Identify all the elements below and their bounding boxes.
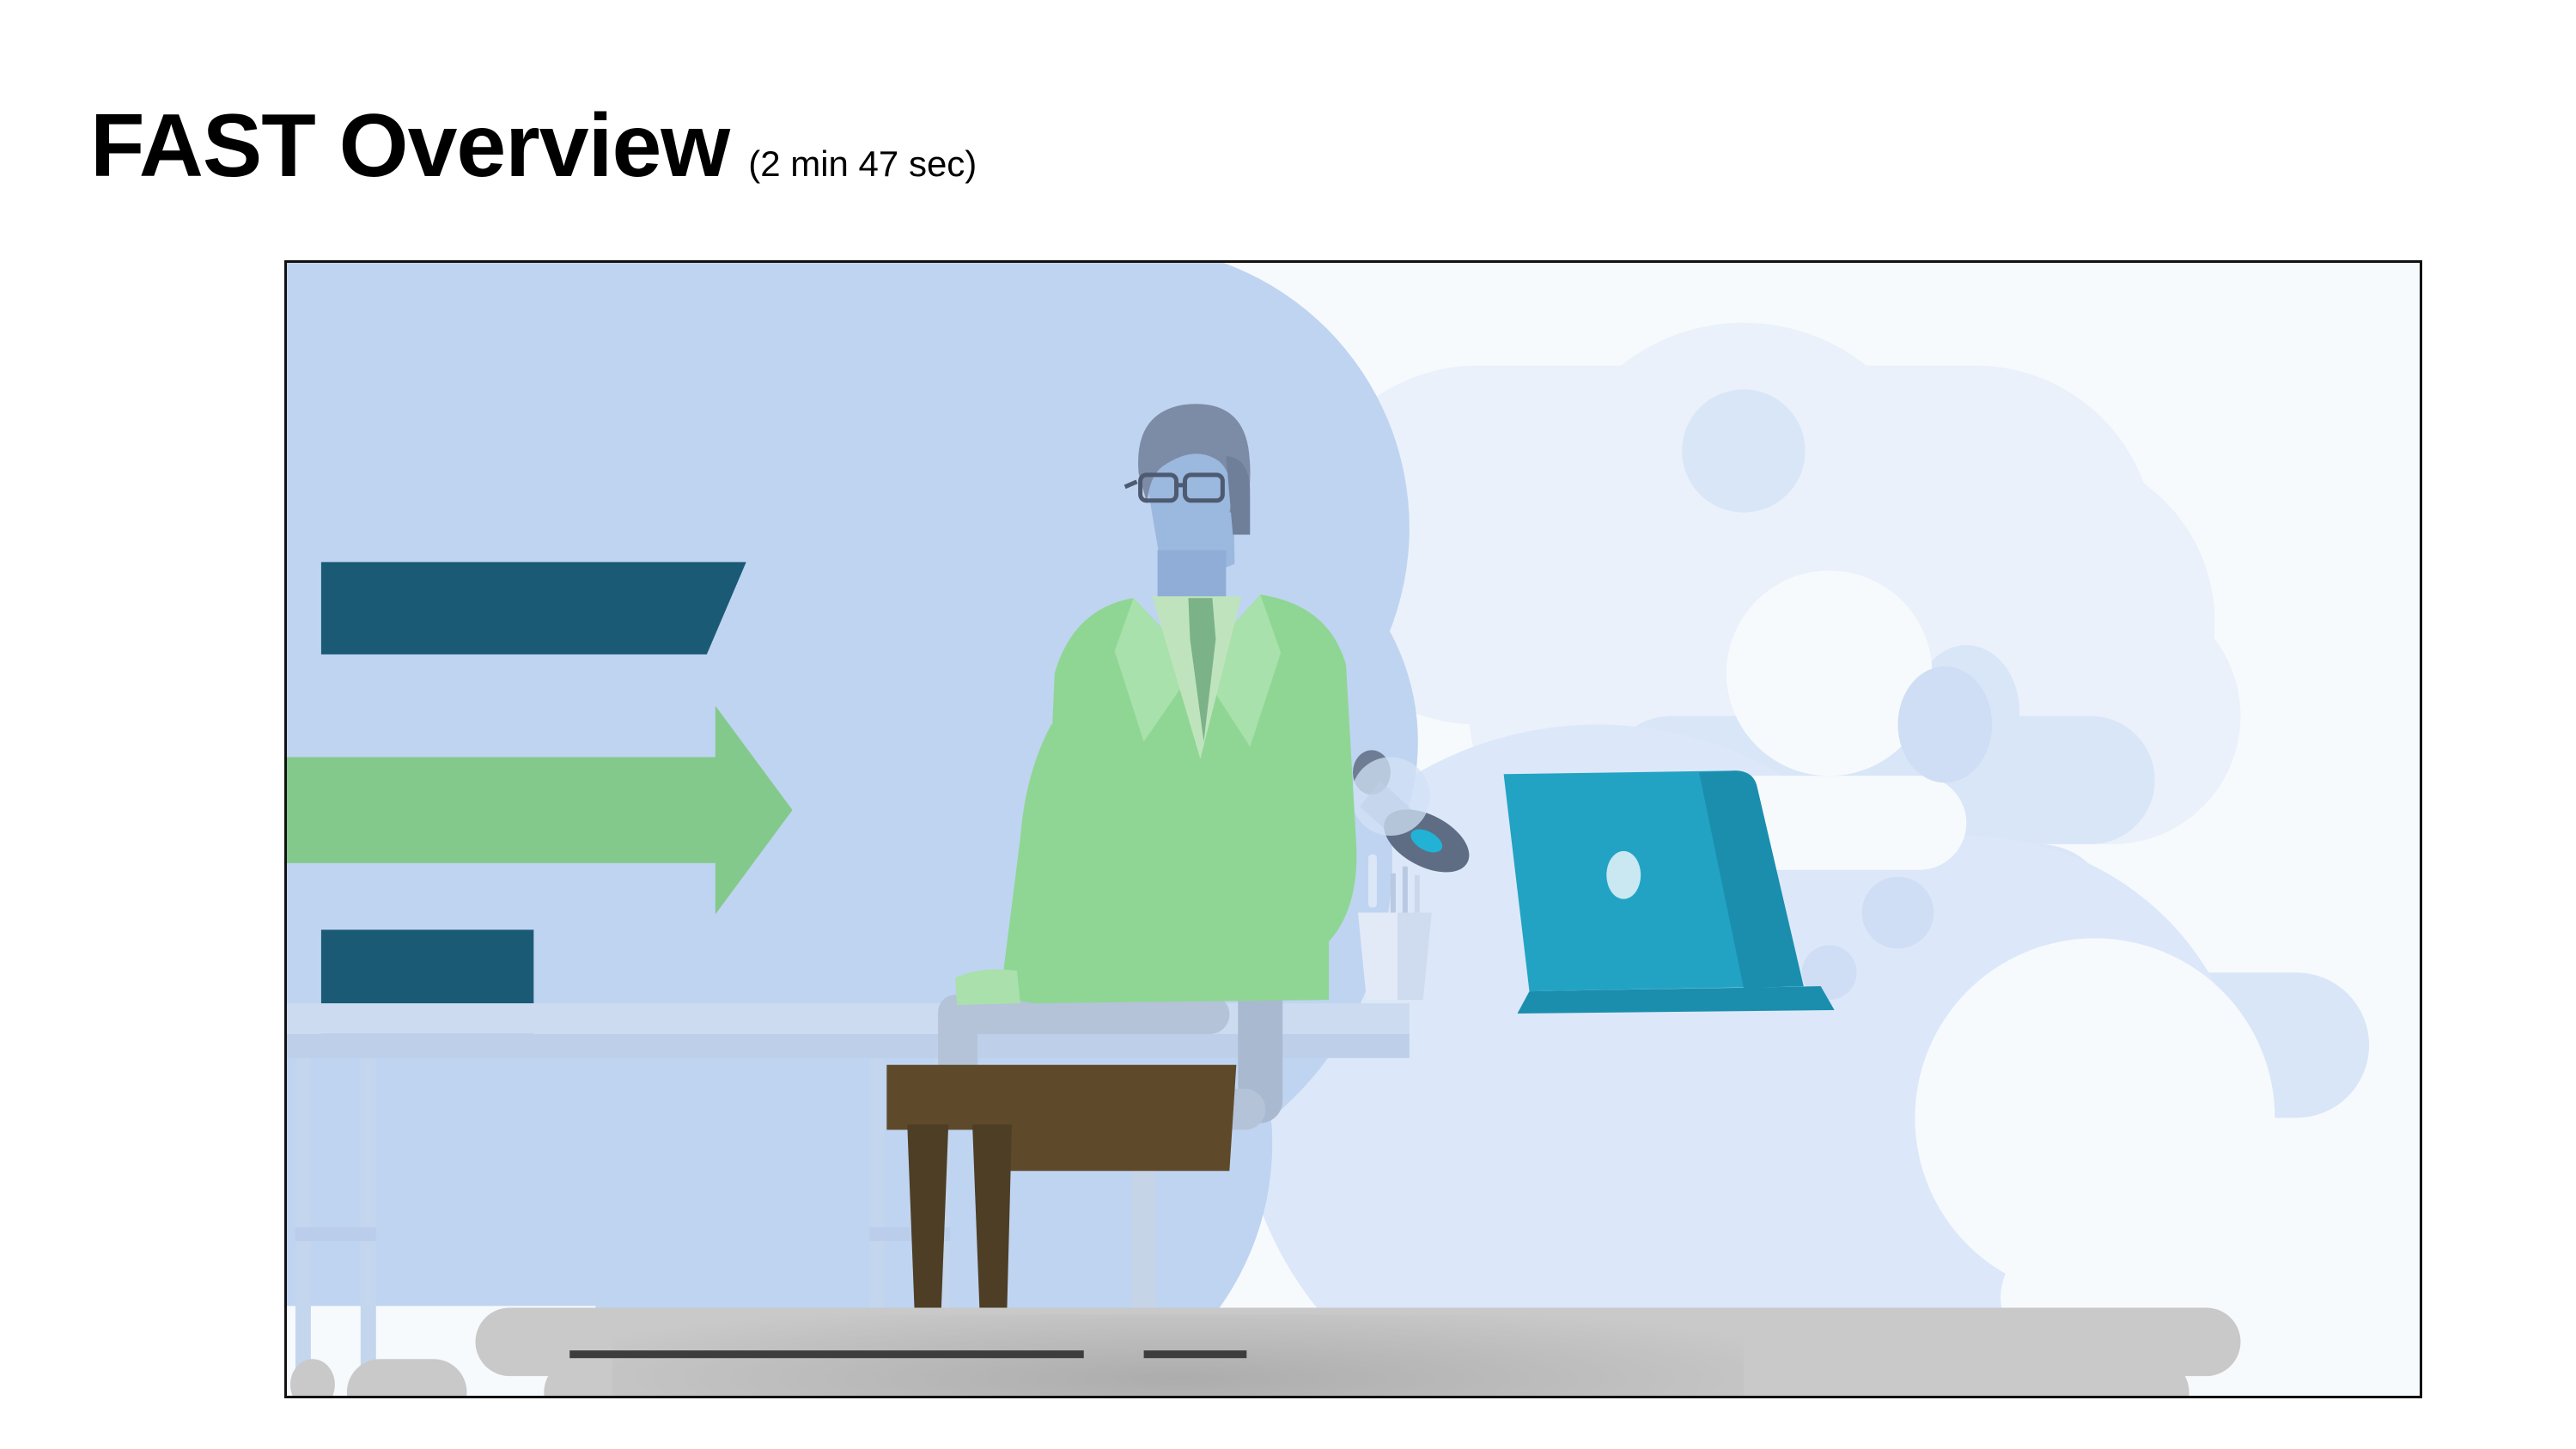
page-title-duration: (2 min 47 sec)	[748, 146, 977, 182]
illustration-frame	[284, 260, 2422, 1398]
page-title-text: FAST Overview	[90, 101, 729, 191]
illustration-graphic	[287, 263, 2420, 1396]
page-title: FAST Overview (2 min 47 sec)	[90, 101, 977, 191]
paper-grain-overlay	[287, 263, 2420, 1396]
